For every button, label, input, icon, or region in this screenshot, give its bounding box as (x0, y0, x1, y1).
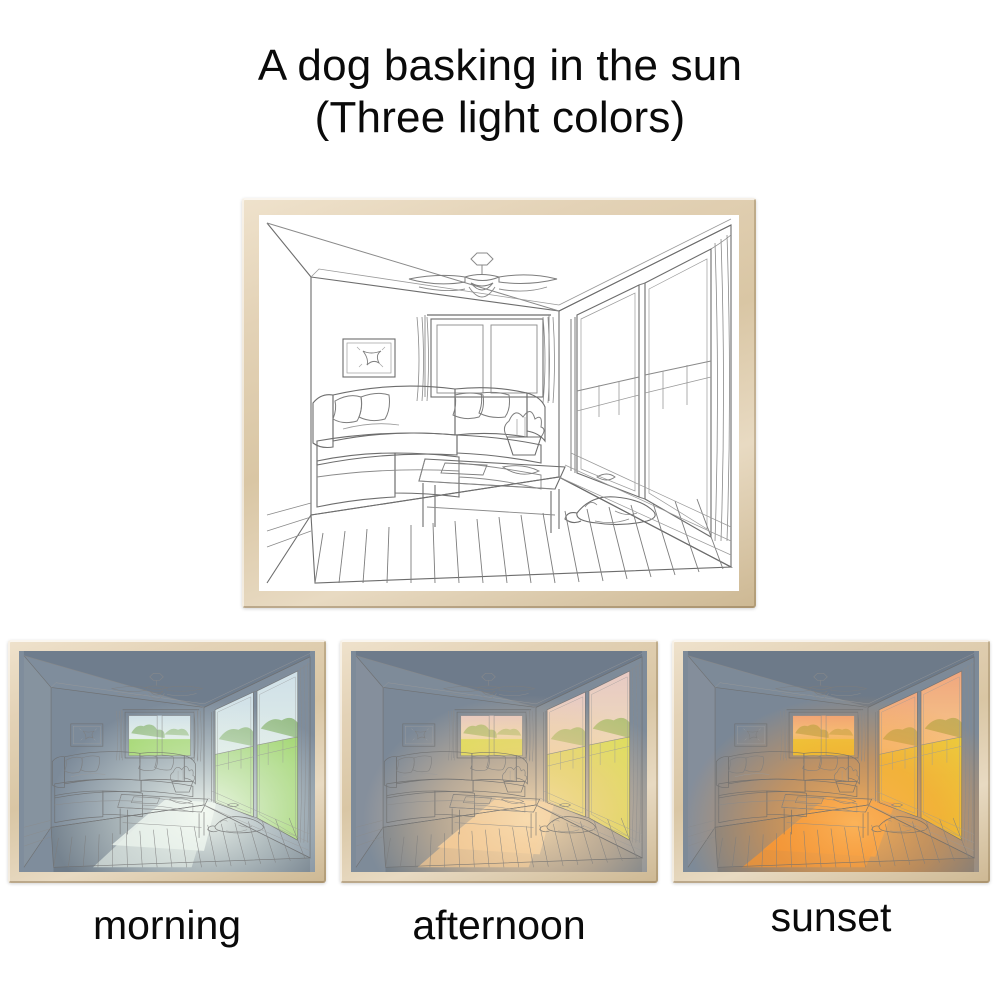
lit-scene-sunset (683, 651, 979, 872)
caption-afternoon: afternoon (340, 902, 658, 949)
caption-morning: morning (8, 902, 326, 949)
panel-afternoon[interactable] (340, 640, 658, 883)
artwork-canvas (259, 215, 739, 591)
panel-afternoon-canvas (351, 651, 647, 872)
lit-scene-afternoon (351, 651, 647, 872)
panel-sunset-canvas (683, 651, 979, 872)
title-line-2: (Three light colors) (0, 92, 1000, 144)
panel-morning-canvas (19, 651, 315, 872)
caption-sunset: sunset (672, 894, 990, 941)
hero-framed-artwork[interactable] (242, 198, 756, 608)
lit-scene-morning (19, 651, 315, 872)
page-title: A dog basking in the sun (Three light co… (0, 40, 1000, 144)
panel-sunset[interactable] (672, 640, 990, 883)
panel-morning[interactable] (8, 640, 326, 883)
title-line-1: A dog basking in the sun (0, 40, 1000, 92)
line-art-scene (259, 215, 739, 591)
